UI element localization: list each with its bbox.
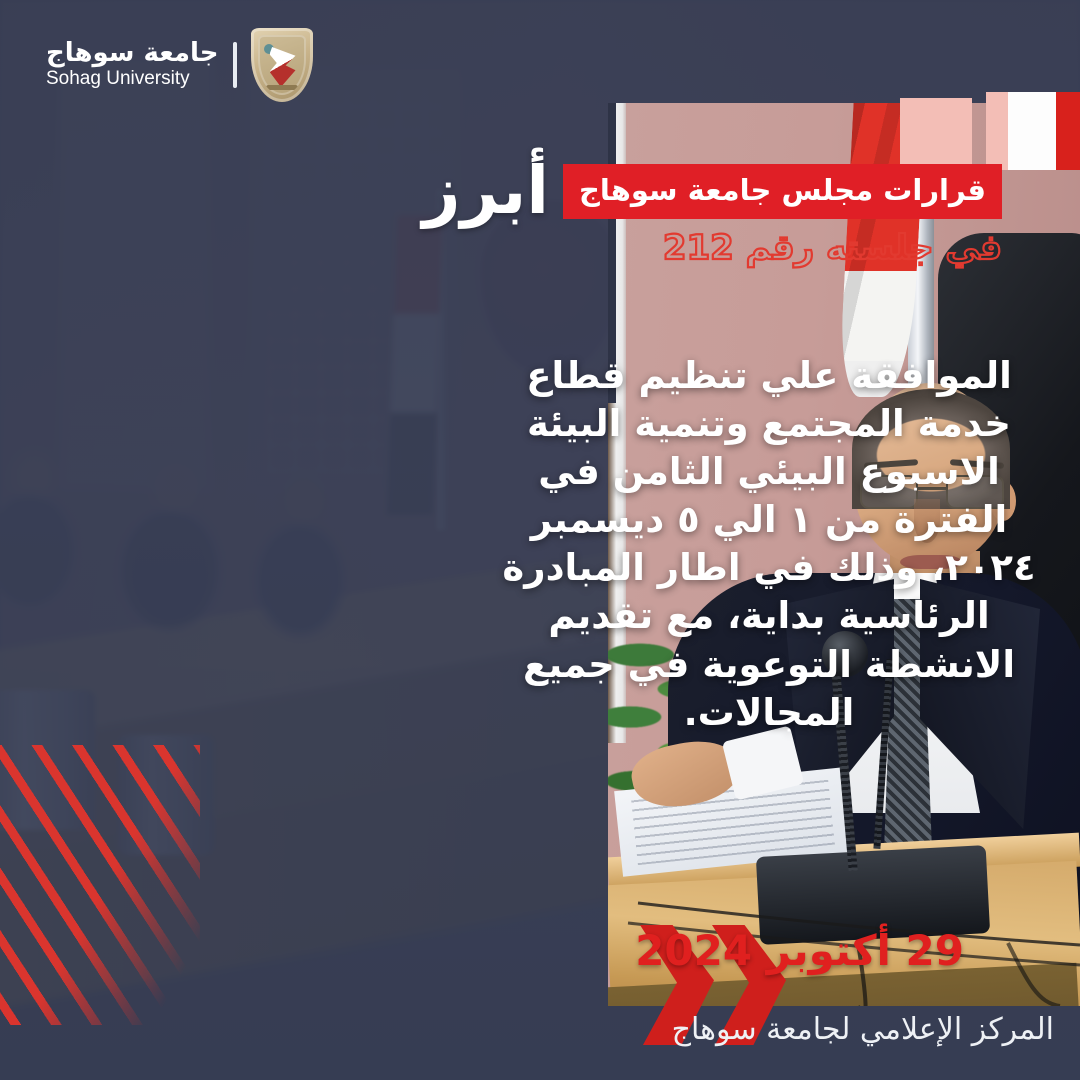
headline-subtitle: في جلسته رقم 212 [423, 230, 1003, 267]
headline-emphasis: أبرز [423, 158, 549, 224]
logo-divider [233, 42, 237, 88]
headline-banner: قرارات مجلس جامعة سوهاج [563, 164, 1002, 219]
brand-name-english: Sohag University [46, 69, 219, 90]
publish-date: 29 أكتوبر 2024 [635, 930, 964, 972]
brand-name-block: جامعة سوهاج Sohag University [46, 40, 219, 90]
decor-block-red [1056, 92, 1080, 170]
footer-credit: المركز الإعلامي لجامعة سوهاج [672, 1015, 1054, 1045]
social-media-news-card: جامعة سوهاج Sohag University قرارات مجلس… [0, 0, 1080, 1080]
brand-name-arabic: جامعة سوهاج [46, 40, 219, 67]
decor-block-white [1008, 92, 1056, 170]
crest-inner [258, 35, 306, 95]
brand-logo: جامعة سوهاج Sohag University [46, 28, 313, 102]
headline-block: قرارات مجلس جامعة سوهاج أبرز في جلسته رق… [423, 158, 1003, 267]
body-paragraph: الموافقة علي تنظيم قطاع خدمة المجتمع وتن… [484, 352, 1054, 737]
crest-base-band [266, 85, 298, 90]
crest-eagle-icon [270, 47, 296, 87]
diagonal-stripes-decoration [0, 745, 200, 1025]
headline-row: قرارات مجلس جامعة سوهاج أبرز [423, 158, 1003, 224]
sohag-university-crest-icon [251, 28, 313, 102]
